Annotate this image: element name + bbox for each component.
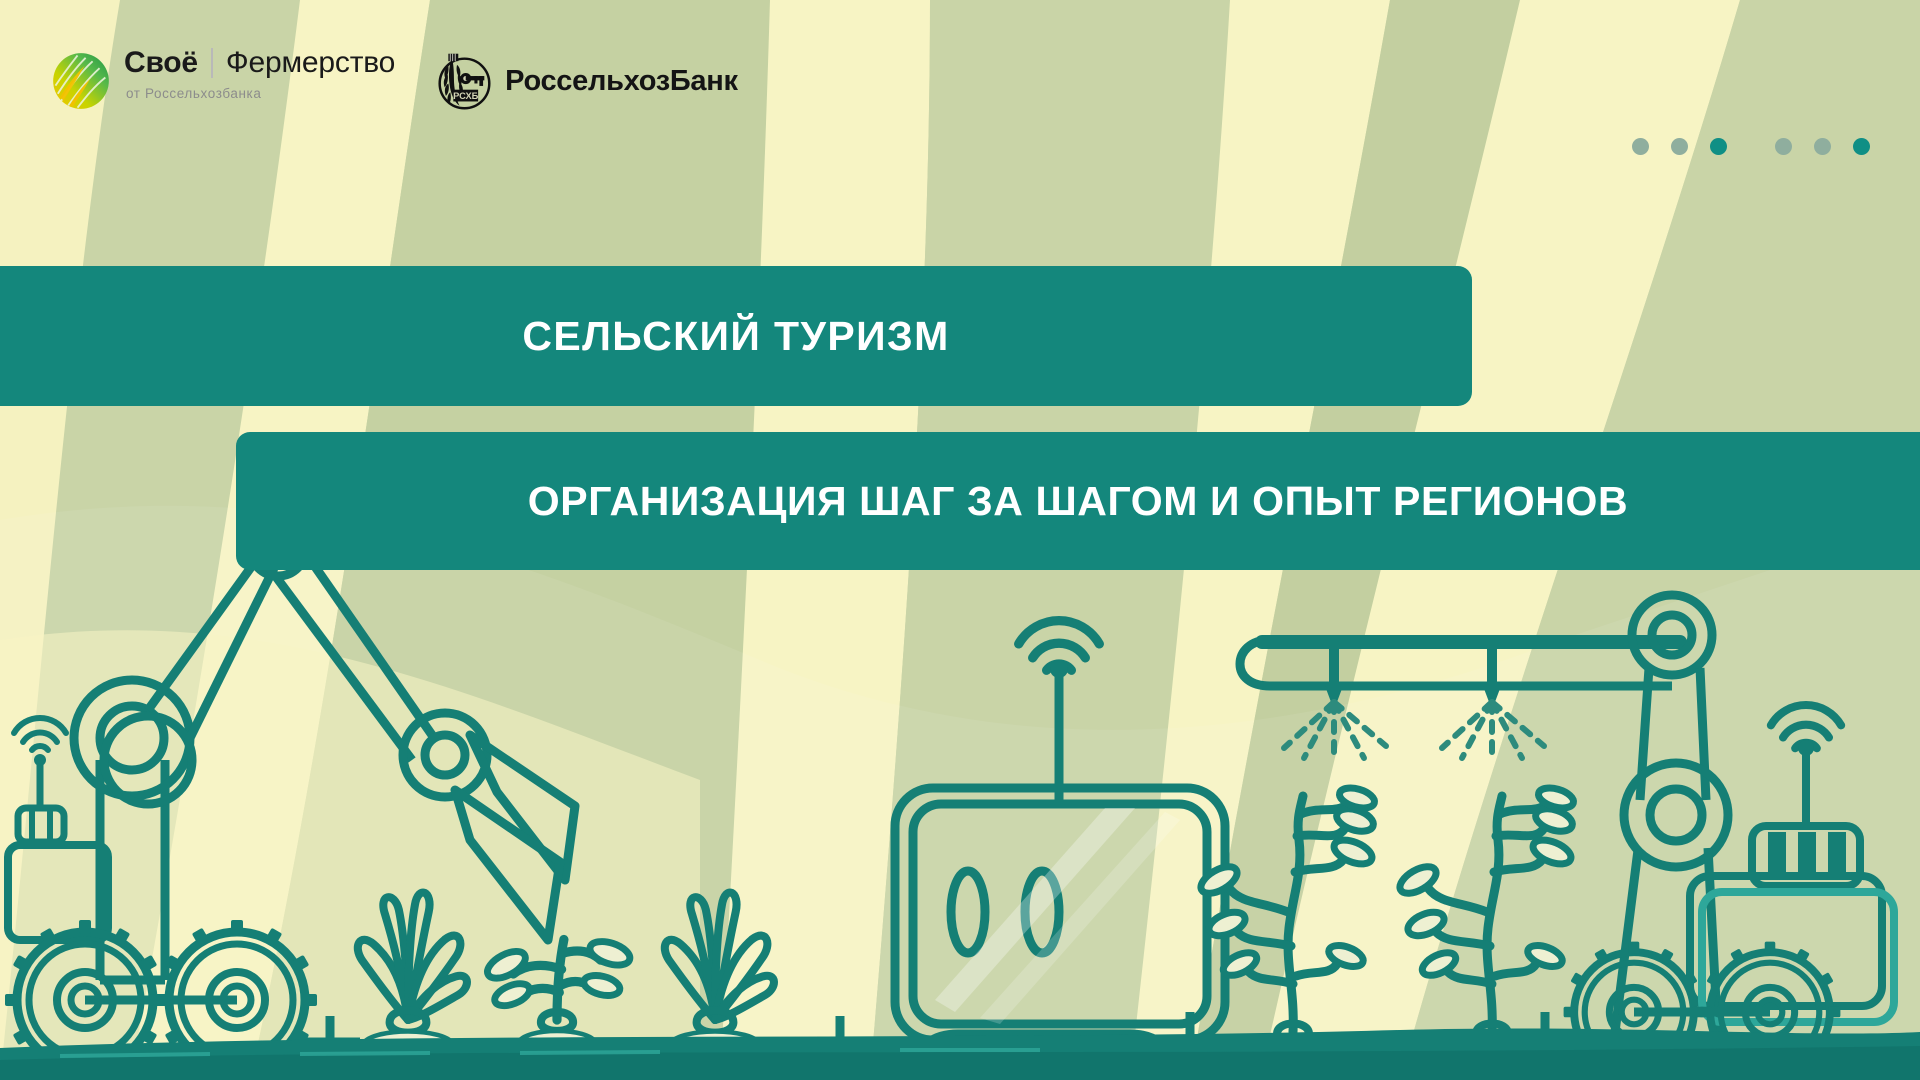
- svoe-word-primary: Своё: [124, 48, 198, 78]
- leafy-beet-plant-2: [665, 893, 774, 1046]
- svoe-circle-leaf-logo-icon: [52, 52, 110, 110]
- leafy-beet-plant-1: [358, 893, 467, 1046]
- secondary-title-bar: ОРГАНИЗАЦИЯ ШАГ ЗА ШАГОМ И ОПЫТ РЕГИОНОВ: [236, 432, 1920, 570]
- sprout-plant-1: [483, 937, 633, 1043]
- slide-progress-dots[interactable]: [1632, 138, 1870, 155]
- progress-dot-4[interactable]: [1775, 138, 1792, 155]
- rshb-wheat-key-emblem-icon: РСХБ: [431, 50, 493, 112]
- progress-dot-5[interactable]: [1814, 138, 1831, 155]
- progress-dot-3[interactable]: [1710, 138, 1727, 155]
- robot-monitor-with-antenna: [895, 621, 1225, 1080]
- progress-dot-2[interactable]: [1671, 138, 1688, 155]
- svoe-fermerstvo-logo[interactable]: Своё Фермерство от Россельхозбанка: [52, 48, 395, 110]
- svg-text:РСХБ: РСХБ: [453, 91, 479, 101]
- rshb-logo-text: РоссельхозБанк: [505, 65, 738, 98]
- slide-header: Своё Фермерство от Россельхозбанка: [0, 0, 1920, 200]
- primary-title-bar: СЕЛЬСКИЙ ТУРИЗМ: [0, 266, 1472, 406]
- wifi-sensor-box-left: [8, 718, 108, 940]
- svoe-word-secondary: Фермерство: [226, 48, 395, 78]
- svoe-text-block: Своё Фермерство от Россельхозбанка: [124, 48, 395, 101]
- page-title: СЕЛЬСКИЙ ТУРИЗМ: [522, 313, 949, 360]
- logo-row: Своё Фермерство от Россельхозбанка: [52, 48, 738, 112]
- robotic-arm-with-gripper: [74, 520, 575, 980]
- irrigation-pipe-with-sprinklers: [1240, 640, 1680, 760]
- svoe-title-row: Своё Фермерство: [124, 48, 395, 78]
- ground-strip: [0, 1028, 1920, 1080]
- svoe-subtitle: от Россельхозбанка: [126, 86, 395, 101]
- progress-dot-1[interactable]: [1632, 138, 1649, 155]
- robotic-arm-right: [1614, 595, 1728, 1040]
- slide-canvas: Своё Фермерство от Россельхозбанка: [0, 0, 1920, 1080]
- progress-dot-6[interactable]: [1853, 138, 1870, 155]
- logo-divider: [211, 48, 213, 78]
- rshb-logo[interactable]: РСХБ РоссельхозБанк: [431, 50, 738, 112]
- page-subtitle: ОРГАНИЗАЦИЯ ШАГ ЗА ШАГОМ И ОПЫТ РЕГИОНОВ: [528, 478, 1628, 525]
